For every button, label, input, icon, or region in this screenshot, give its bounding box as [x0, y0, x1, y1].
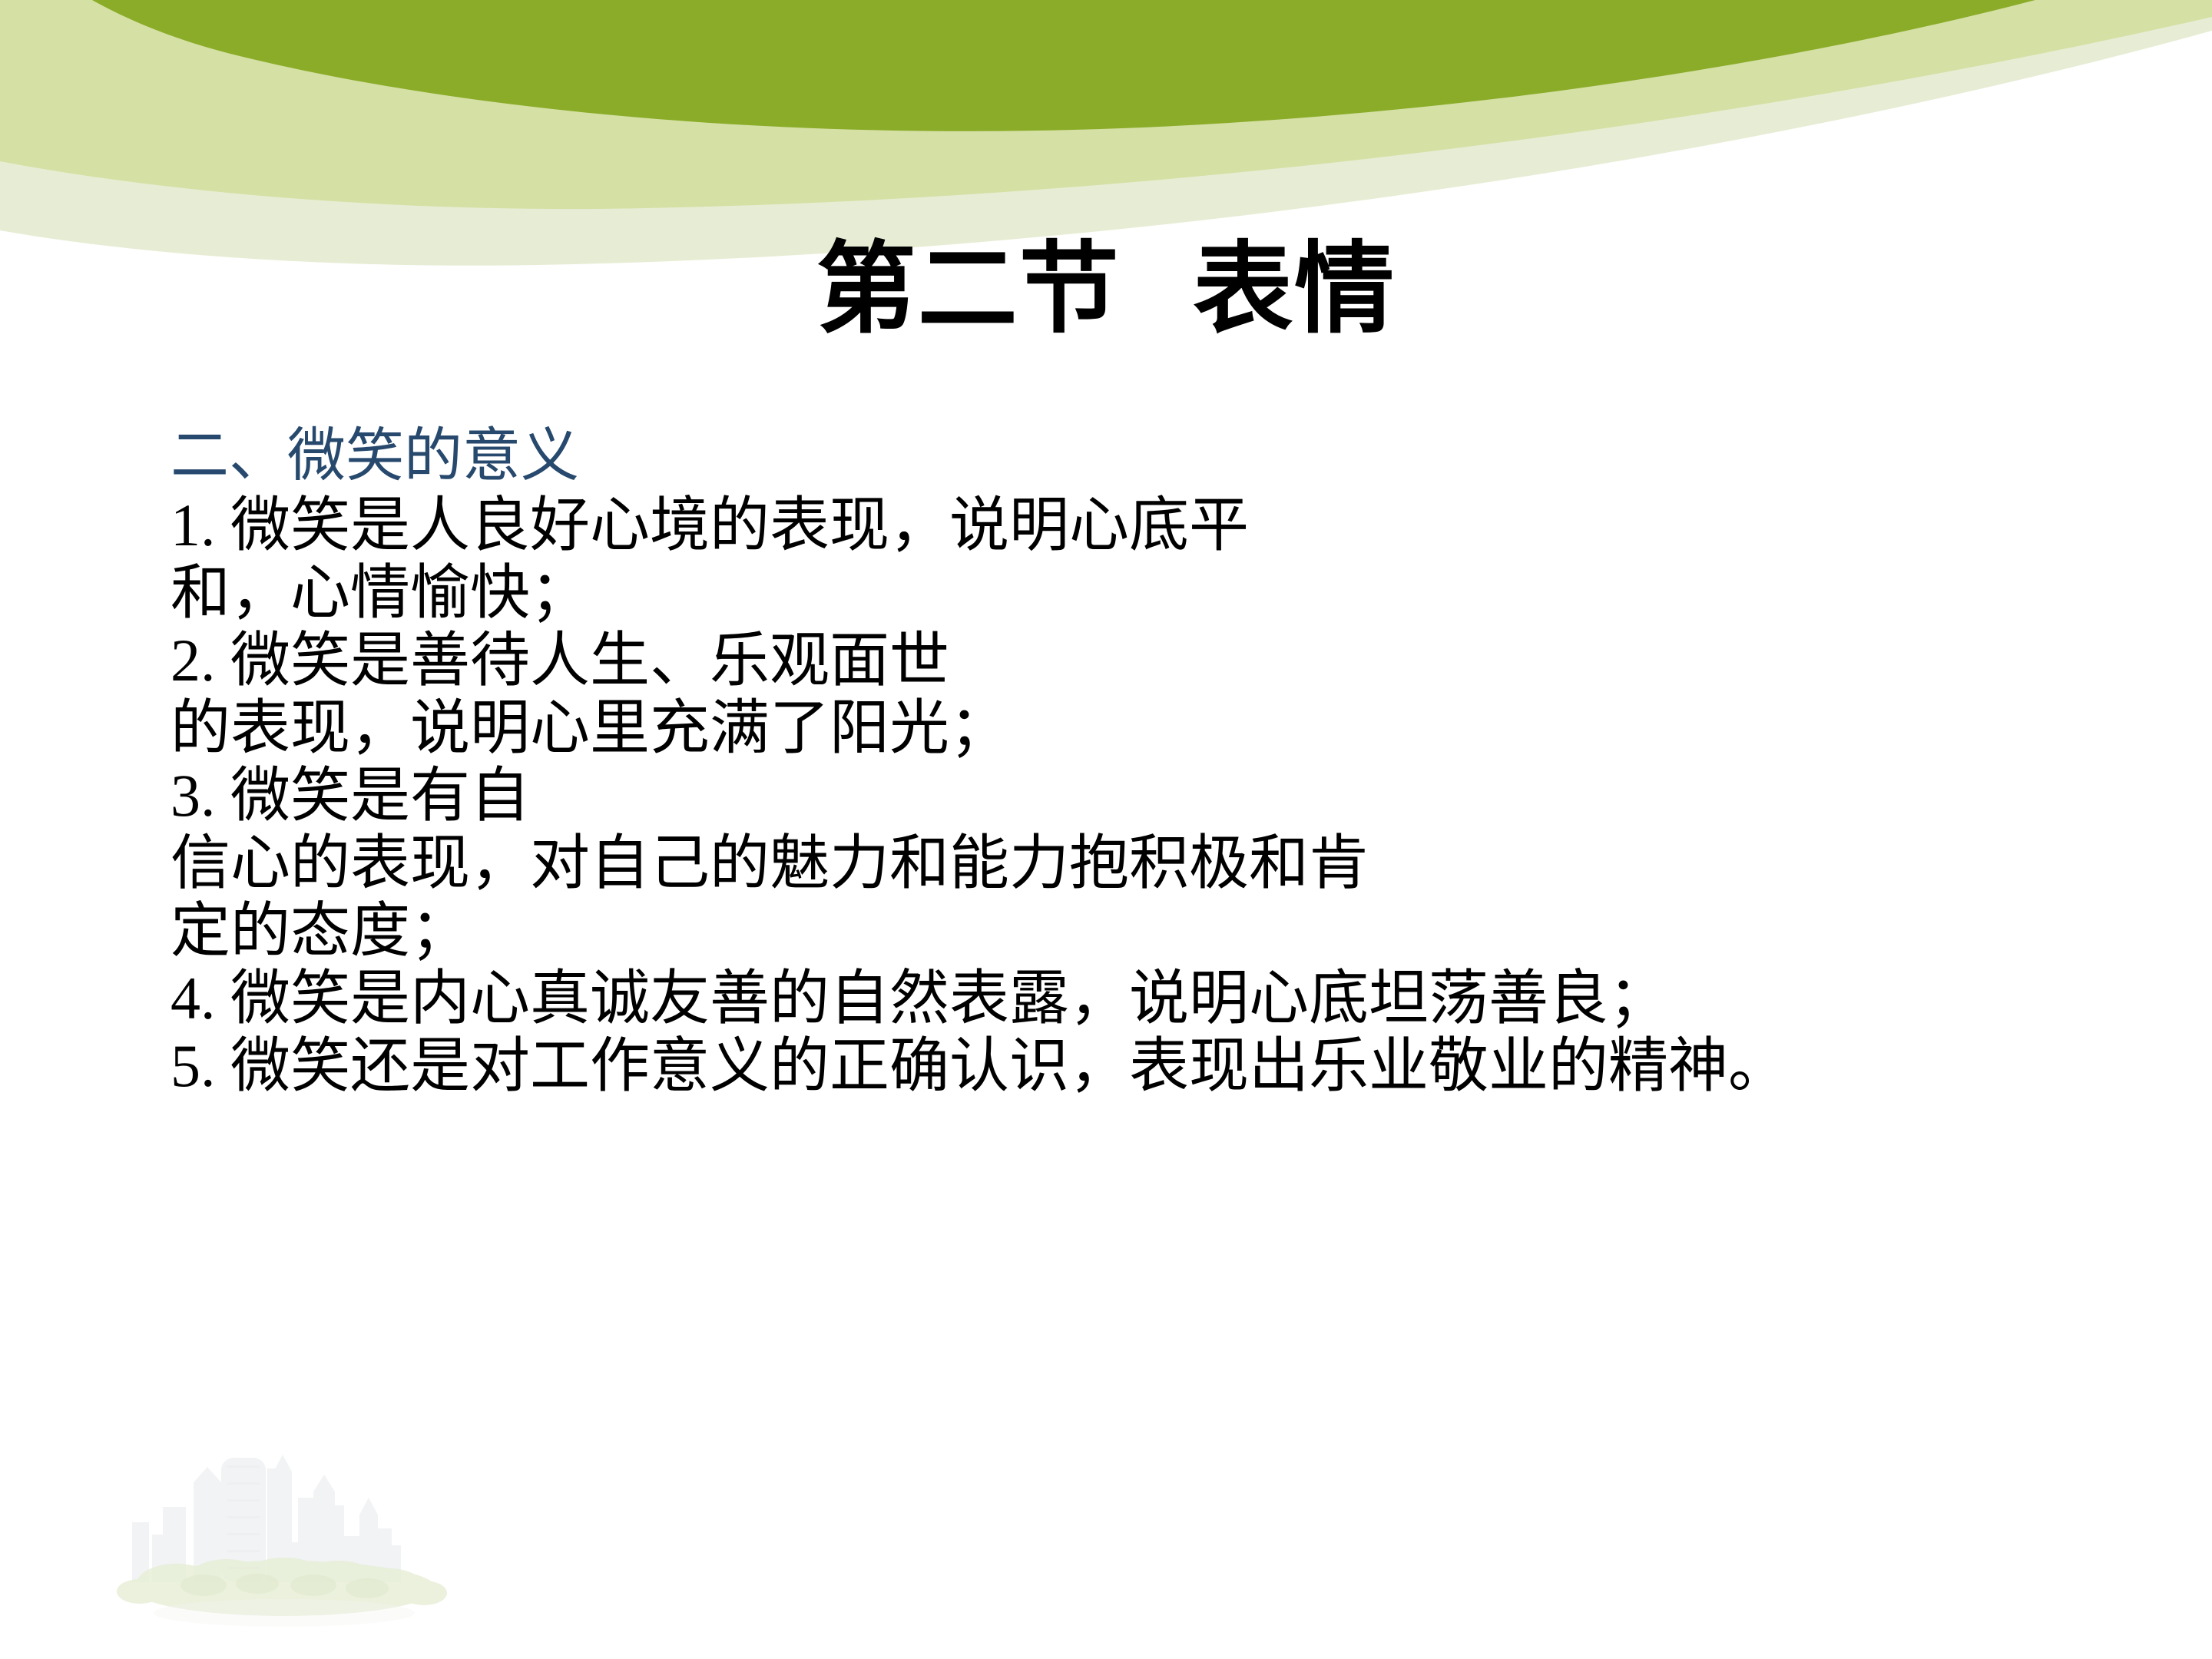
- body-line: 信心的表现，对自己的魅力和能力抱积极和肯: [171, 829, 2183, 897]
- body-line: 3. 微笑是有自: [171, 762, 2183, 829]
- body-line: 的表现，说明心里充满了阳光；: [171, 694, 2183, 762]
- body-line: 4. 微笑是内心真诚友善的自然表露，说明心底坦荡善良；: [171, 965, 2183, 1032]
- body-line: 2. 微笑是善待人生、乐观面世: [171, 627, 2183, 694]
- body-line: 5. 微笑还是对工作意义的正确认识，表现出乐业敬业的精神。: [171, 1032, 2183, 1100]
- body-text-block: 二、微笑的意义 1. 微笑是人良好心境的表现，说明心底平 和，心情愉快； 2. …: [171, 421, 2183, 1100]
- page-title: 第二节 表情: [0, 227, 2212, 350]
- slide-canvas: 第二节 表情 二、微笑的意义 1. 微笑是人良好心境的表现，说明心底平 和，心情…: [0, 0, 2212, 1659]
- body-line: 和，心情愉快；: [171, 559, 2183, 627]
- swoosh-band-light: [0, 0, 2212, 266]
- cityscape-watermark-icon: [92, 1421, 476, 1651]
- section-heading: 二、微笑的意义: [171, 421, 2183, 492]
- swoosh-band-dark: [92, 0, 2035, 131]
- body-line: 定的态度；: [171, 897, 2183, 965]
- body-line: 1. 微笑是人良好心境的表现，说明心底平: [171, 492, 2183, 559]
- swoosh-band-mid: [0, 0, 2212, 209]
